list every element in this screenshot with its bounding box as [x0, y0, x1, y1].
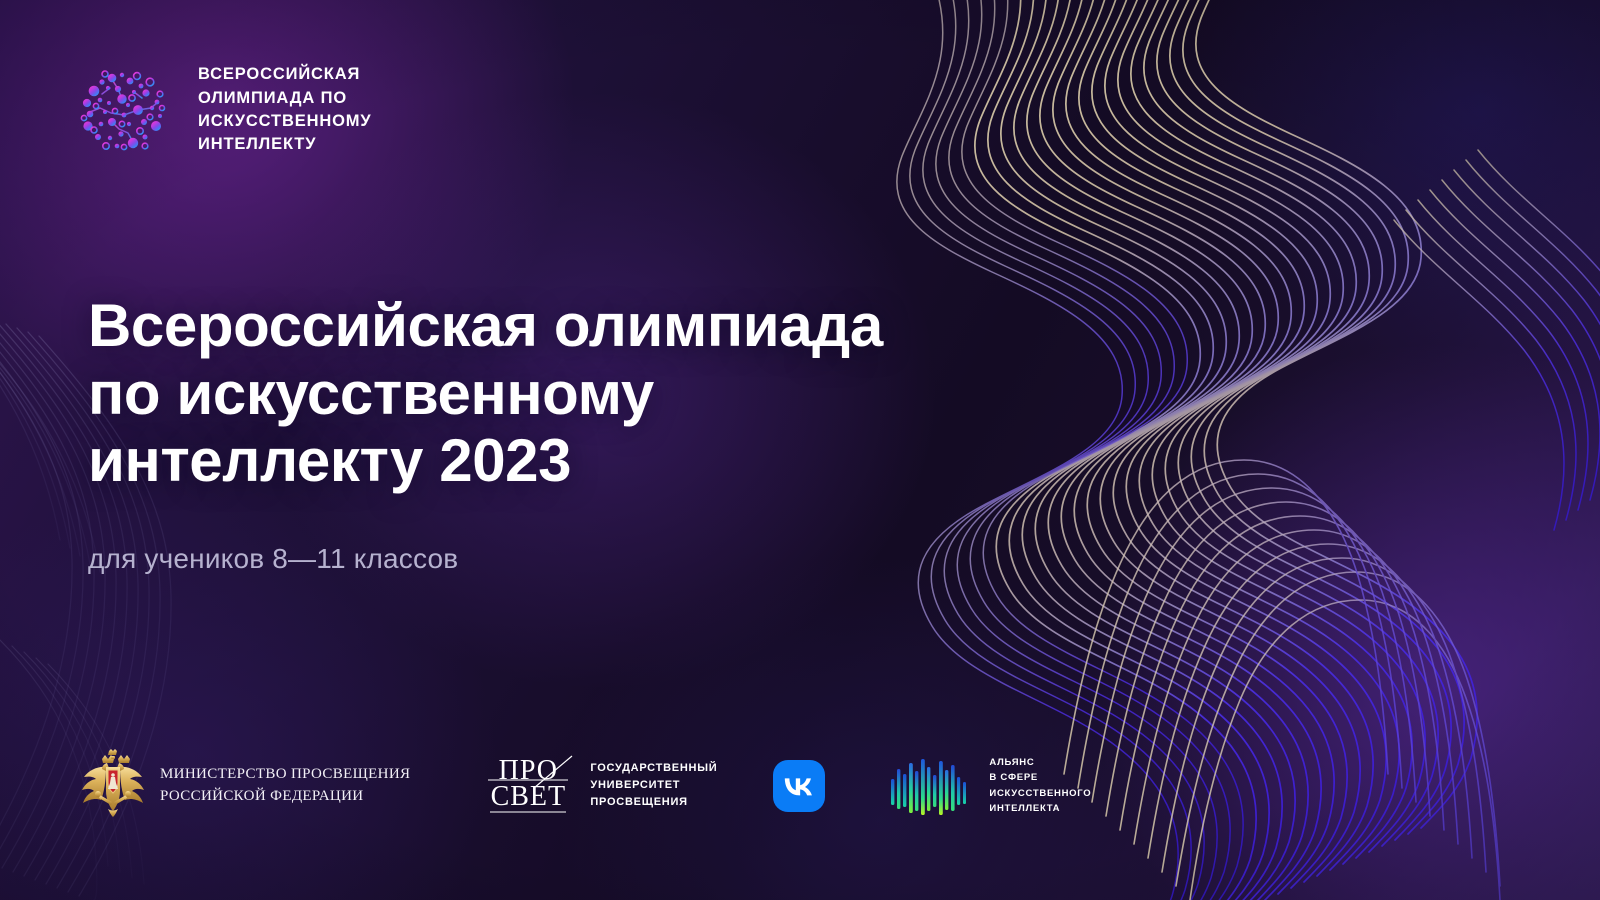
partner-ai-alliance-label: АЛЬЯНС В СФЕРЕ ИСКУССТВЕННОГО ИНТЕЛЛЕКТА — [989, 755, 1091, 817]
partner-prosvet-university-label: ГОСУДАРСТВЕННЫЙ УНИВЕРСИТЕТ ПРОСВЕЩЕНИЯ — [590, 760, 717, 811]
partner-ai-alliance[interactable]: АЛЬЯНС В СФЕРЕ ИСКУССТВЕННОГО ИНТЕЛЛЕКТА — [889, 755, 1091, 817]
partner-vk[interactable] — [773, 760, 825, 812]
russian-coat-of-arms-eagle-icon — [80, 749, 146, 822]
prosvet-wordmark-icon: ПРО СВЕТ — [482, 754, 574, 818]
partner-minprosveshcheniya-label: МИНИСТЕРСТВО ПРОСВЕЩЕНИЯ РОССИЙСКОЙ ФЕДЕ… — [160, 764, 410, 807]
poster-canvas: ВСЕРОССИЙСКАЯ ОЛИМПИАДА ПО ИСКУССТВЕННОМ… — [0, 0, 1600, 900]
olympiad-logo[interactable]: ВСЕРОССИЙСКАЯ ОЛИМПИАДА ПО ИСКУССТВЕННОМ… — [72, 58, 372, 162]
olympiad-logo-wordmark: ВСЕРОССИЙСКАЯ ОЛИМПИАДА ПО ИСКУССТВЕННОМ… — [198, 63, 372, 157]
vk-logo-icon — [773, 760, 825, 812]
hero-block: Всероссийская олимпиада по искусственном… — [88, 292, 1028, 575]
partner-prosvet-university[interactable]: ПРО СВЕТ ГОСУДАРСТВЕННЫЙ УНИВЕРСИТЕТ ПРО… — [482, 754, 717, 818]
ai-network-dots-logo-icon — [72, 58, 176, 162]
page-title: Всероссийская олимпиада по искусственном… — [88, 292, 1028, 495]
page-subtitle: для учеников 8—11 классов — [88, 543, 1028, 575]
ai-alliance-equalizer-icon — [889, 755, 975, 817]
partner-minprosveshcheniya[interactable]: МИНИСТЕРСТВО ПРОСВЕЩЕНИЯ РОССИЙСКОЙ ФЕДЕ… — [80, 749, 410, 822]
partner-logos: МИНИСТЕРСТВО ПРОСВЕЩЕНИЯ РОССИЙСКОЙ ФЕДЕ… — [80, 749, 1091, 822]
